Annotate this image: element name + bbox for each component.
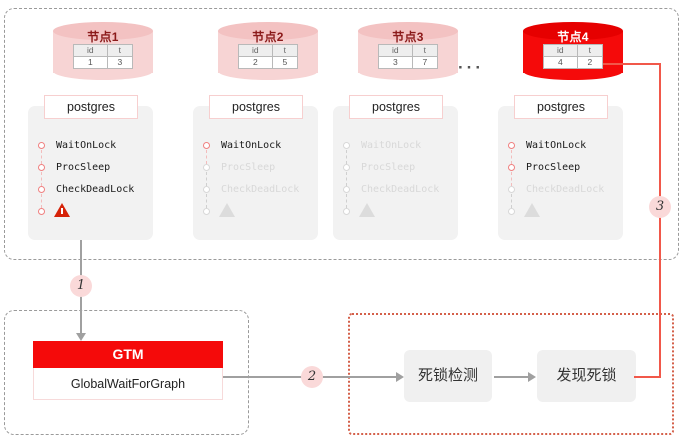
table-cell: 4 [544, 57, 578, 69]
node-3-cylinder: 节点3 id t 3 7 [358, 22, 458, 80]
step-label: WaitOnLock [221, 136, 281, 155]
step-label: ProcSleep [221, 158, 275, 177]
node-1-cylinder: 节点1 id t 1 3 [53, 22, 153, 80]
table-header-cell: id [379, 45, 413, 57]
step-dot-icon [508, 164, 515, 171]
warning-triangle-icon [54, 203, 70, 217]
step-connector [346, 150, 347, 164]
table-header-cell: t [107, 45, 132, 57]
connector-detect-to-found-arrowhead [528, 372, 536, 382]
warning-triangle-icon [219, 203, 235, 217]
step-dot-icon [203, 186, 210, 193]
connector-found-to-node4-segment-h-bottom [634, 376, 661, 378]
step-dot-icon [38, 186, 45, 193]
table-cell: 2 [577, 57, 602, 69]
step-dot-icon [343, 142, 350, 149]
step-dot-icon [343, 164, 350, 171]
step-dot-icon [38, 142, 45, 149]
step-dot-icon [508, 186, 515, 193]
step-dot-icon [203, 164, 210, 171]
node-2-title: 节点2 [218, 28, 318, 45]
connector-gtm-to-detect-arrowhead [396, 372, 404, 382]
badge-step-1: 1 [70, 275, 92, 297]
table-header-cell: id [544, 45, 578, 57]
table-header-cell: t [577, 45, 602, 57]
node-4-cylinder: 节点4 id t 4 2 [523, 22, 623, 80]
connector-found-to-node4-segment-v [659, 63, 661, 378]
step-label: CheckDeadLock [56, 180, 134, 199]
node-2-table: id t 2 5 [238, 44, 298, 69]
step-connector [41, 194, 42, 208]
step-dot-icon [343, 208, 350, 215]
table-cell: 5 [272, 57, 297, 69]
step-connector [206, 194, 207, 208]
step-connector [511, 194, 512, 208]
node-4-title: 节点4 [523, 28, 623, 45]
table-cell: 3 [107, 57, 132, 69]
table-header-cell: t [272, 45, 297, 57]
step-label: ProcSleep [56, 158, 110, 177]
step-dot-icon [38, 208, 45, 215]
node-3-db-label: postgres [349, 95, 443, 119]
table-header-cell: id [239, 45, 273, 57]
step-label: ProcSleep [526, 158, 580, 177]
step-connector [41, 150, 42, 164]
step-connector [511, 150, 512, 164]
step-label: CheckDeadLock [526, 180, 604, 199]
node-2-card: postgres WaitOnLock ProcSleep CheckDeadL… [193, 106, 318, 240]
step-dot-icon [343, 186, 350, 193]
deadlock-detect-box: 死锁检测 [404, 350, 492, 402]
step-connector [206, 172, 207, 186]
warning-triangle-icon [524, 203, 540, 217]
table-cell: 3 [379, 57, 413, 69]
node-3-table: id t 3 7 [378, 44, 438, 69]
step-connector [206, 150, 207, 164]
step-label: CheckDeadLock [361, 180, 439, 199]
table-cell: 2 [239, 57, 273, 69]
node-2-cylinder: 节点2 id t 2 5 [218, 22, 318, 80]
table-cell: 7 [412, 57, 437, 69]
step-connector [346, 194, 347, 208]
step-label: WaitOnLock [361, 136, 421, 155]
warning-triangle-icon [359, 203, 375, 217]
node-1-db-label: postgres [44, 95, 138, 119]
table-header-cell: id [74, 45, 108, 57]
node-1-title: 节点1 [53, 28, 153, 45]
deadlock-found-box: 发现死锁 [537, 350, 636, 402]
connector-node1-to-gtm-arrowhead [76, 333, 86, 341]
gtm-header: GTM [33, 341, 223, 368]
ellipsis-separator: ··· [458, 58, 484, 78]
node-1-card: postgres WaitOnLock ProcSleep CheckDeadL… [28, 106, 153, 240]
step-dot-icon [203, 208, 210, 215]
step-dot-icon [508, 142, 515, 149]
step-connector [511, 172, 512, 186]
badge-step-3: 3 [649, 196, 671, 218]
gtm-box: GTM GlobalWaitForGraph [33, 341, 223, 400]
step-dot-icon [508, 208, 515, 215]
node-4-db-label: postgres [514, 95, 608, 119]
node-1-table: id t 1 3 [73, 44, 133, 69]
step-label: ProcSleep [361, 158, 415, 177]
table-cell: 1 [74, 57, 108, 69]
node-2-db-label: postgres [209, 95, 303, 119]
step-label: WaitOnLock [56, 136, 116, 155]
gtm-body-label: GlobalWaitForGraph [33, 368, 223, 400]
step-connector [41, 172, 42, 186]
step-dot-icon [203, 142, 210, 149]
node-3-title: 节点3 [358, 28, 458, 45]
node-3-card: postgres WaitOnLock ProcSleep CheckDeadL… [333, 106, 458, 240]
connector-detect-to-found [494, 376, 532, 378]
badge-step-2: 2 [301, 366, 323, 388]
step-dot-icon [38, 164, 45, 171]
step-connector [346, 172, 347, 186]
node-4-table: id t 4 2 [543, 44, 603, 69]
node-4-card: postgres WaitOnLock ProcSleep CheckDeadL… [498, 106, 623, 240]
step-label: CheckDeadLock [221, 180, 299, 199]
diagram-canvas: 节点1 id t 1 3 postgres WaitOnLock [0, 0, 683, 440]
step-label: WaitOnLock [526, 136, 586, 155]
table-header-cell: t [412, 45, 437, 57]
